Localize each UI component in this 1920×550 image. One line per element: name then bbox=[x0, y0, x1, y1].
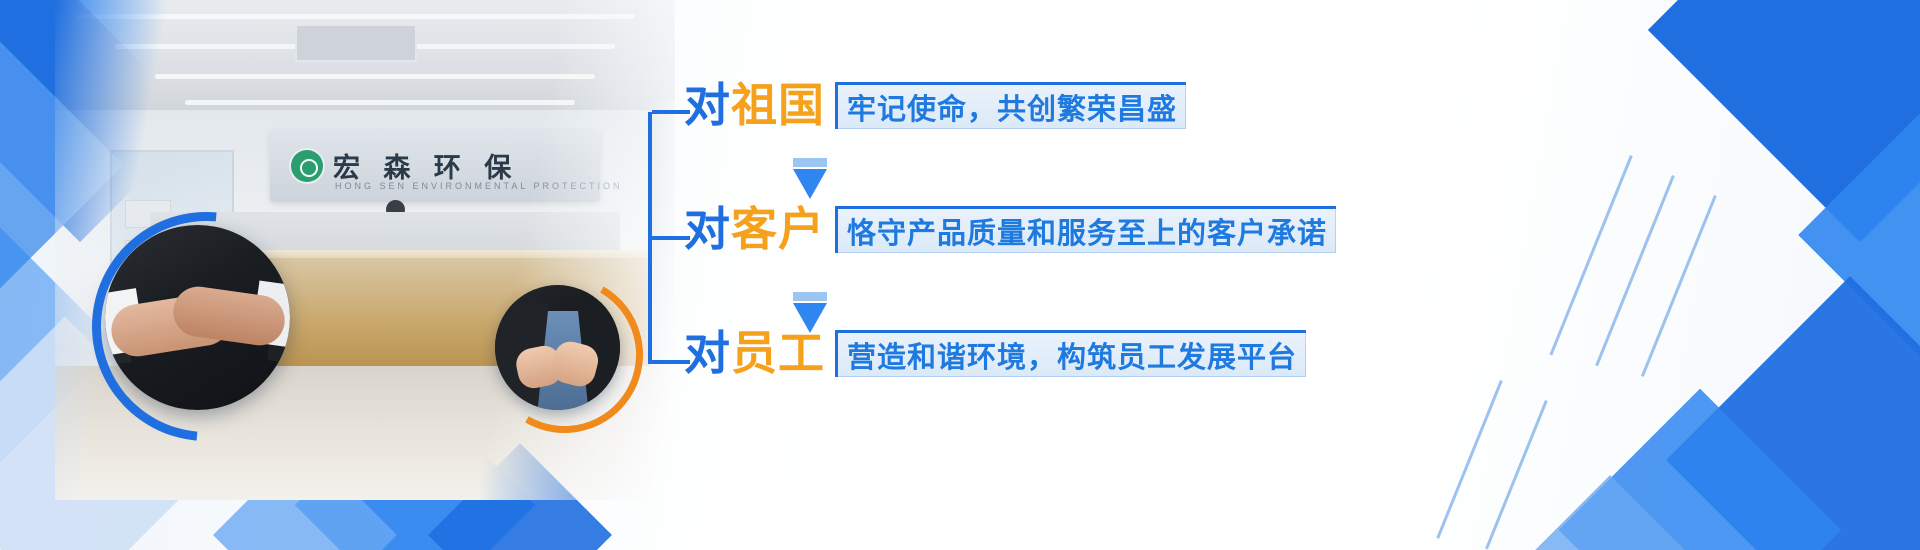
ceiling-light-4 bbox=[185, 100, 575, 105]
slogan-prefix: 对 bbox=[684, 78, 731, 132]
slogan-block: 对祖国 牢记使命，共创繁荣昌盛 对客户 恪守产品质量和服务至上的客户承诺 对员工 bbox=[648, 78, 1408, 398]
slogan-keyword: 员工 bbox=[731, 326, 825, 380]
slogan-rows: 对祖国 牢记使命，共创繁荣昌盛 对客户 恪守产品质量和服务至上的客户承诺 对员工 bbox=[684, 78, 1404, 380]
slogan-row-country: 对祖国 牢记使命，共创繁荣昌盛 bbox=[684, 78, 1404, 132]
promo-banner: 宏 森 环 保 HONG SEN ENVIRONMENTAL PROTECTIO… bbox=[0, 0, 1920, 550]
slogan-tag-employee: 营造和谐环境，构筑员工发展平台 bbox=[835, 330, 1306, 377]
slogan-tag-country: 牢记使命，共创繁荣昌盛 bbox=[835, 82, 1186, 129]
ceiling-light-1 bbox=[75, 14, 635, 19]
decor-shape-top-right-2 bbox=[1798, 58, 1920, 412]
slogan-row-employee: 对员工 营造和谐环境，构筑员工发展平台 bbox=[684, 326, 1404, 380]
company-name: 宏 森 环 保 bbox=[333, 146, 518, 185]
decor-shape-bottom-right-1 bbox=[1666, 276, 1920, 550]
slogan-prefix: 对 bbox=[684, 326, 731, 380]
slogan-lead-country: 对祖国 bbox=[684, 82, 825, 128]
decor-shape-top-right-1 bbox=[1648, 0, 1920, 242]
slogan-tag-customer: 恪守产品质量和服务至上的客户承诺 bbox=[835, 206, 1336, 253]
slogan-keyword: 祖国 bbox=[731, 78, 825, 132]
decor-shape-bottom-right-2 bbox=[1559, 389, 1842, 550]
globe-logo-icon bbox=[291, 150, 323, 182]
company-subtitle: HONG SEN ENVIRONMENTAL PROTECTION bbox=[335, 181, 623, 191]
slogan-row-customer: 对客户 恪守产品质量和服务至上的客户承诺 bbox=[684, 202, 1404, 256]
slogan-lead-employee: 对员工 bbox=[684, 330, 825, 376]
decor-thin-line-4 bbox=[1436, 380, 1502, 539]
slogan-tag-text: 营造和谐环境，构筑员工发展平台 bbox=[847, 334, 1297, 376]
slogan-lead-customer: 对客户 bbox=[684, 206, 825, 252]
decor-shape-bottom-right-3 bbox=[1525, 475, 1695, 550]
decor-thin-line-1 bbox=[1549, 155, 1632, 355]
ceiling-vent bbox=[295, 24, 417, 62]
slogan-tag-text: 牢记使命，共创繁荣昌盛 bbox=[847, 86, 1177, 128]
ceiling-light-3 bbox=[155, 74, 595, 79]
decor-thin-line-5 bbox=[1485, 400, 1548, 549]
decor-thin-line-2 bbox=[1595, 175, 1675, 366]
slogan-tag-text: 恪守产品质量和服务至上的客户承诺 bbox=[847, 210, 1327, 252]
slogan-keyword: 客户 bbox=[731, 202, 825, 256]
slogan-prefix: 对 bbox=[684, 202, 731, 256]
